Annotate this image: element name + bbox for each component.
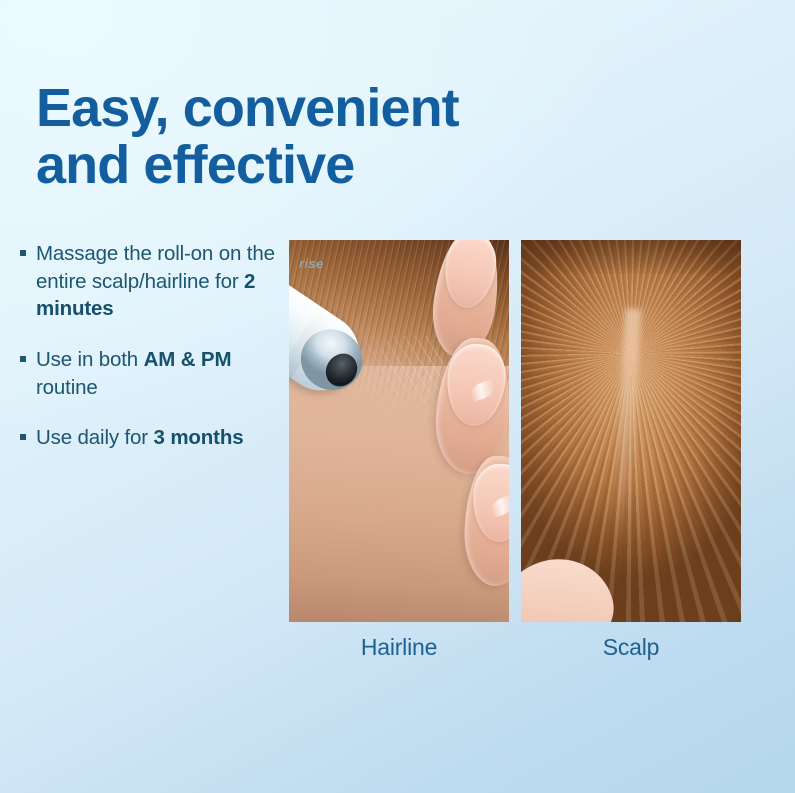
photo-captions: Hairline Scalp — [289, 634, 741, 661]
photo-hairline: rise — [289, 240, 509, 622]
caption-hairline: Hairline — [289, 634, 509, 661]
photo-top-shadow — [521, 240, 741, 274]
promo-card: Easy, convenient and effective Massage t… — [0, 0, 795, 793]
step-text: Massage the roll-on on the entire scalp/… — [36, 242, 275, 320]
photo-pair: rise — [289, 240, 741, 622]
nail-art-leaf-icon — [489, 494, 509, 517]
list-item: Massage the roll-on on the entire scalp/… — [18, 240, 286, 323]
nail-art-leaf-icon — [469, 379, 497, 401]
brand-mark: rise — [299, 256, 324, 272]
bullet-square-icon — [20, 434, 26, 440]
list-item: Use in both AM & PM routine — [18, 346, 286, 401]
photo-scalp — [521, 240, 741, 622]
page-title: Easy, convenient and effective — [36, 80, 556, 194]
bullet-square-icon — [20, 250, 26, 256]
step-text: Use daily for 3 months — [36, 426, 243, 449]
step-text: Use in both AM & PM routine — [36, 348, 231, 399]
usage-steps-list: Massage the roll-on on the entire scalp/… — [18, 240, 286, 452]
list-item: Use daily for 3 months — [18, 424, 286, 452]
caption-scalp: Scalp — [521, 634, 741, 661]
bullet-square-icon — [20, 356, 26, 362]
